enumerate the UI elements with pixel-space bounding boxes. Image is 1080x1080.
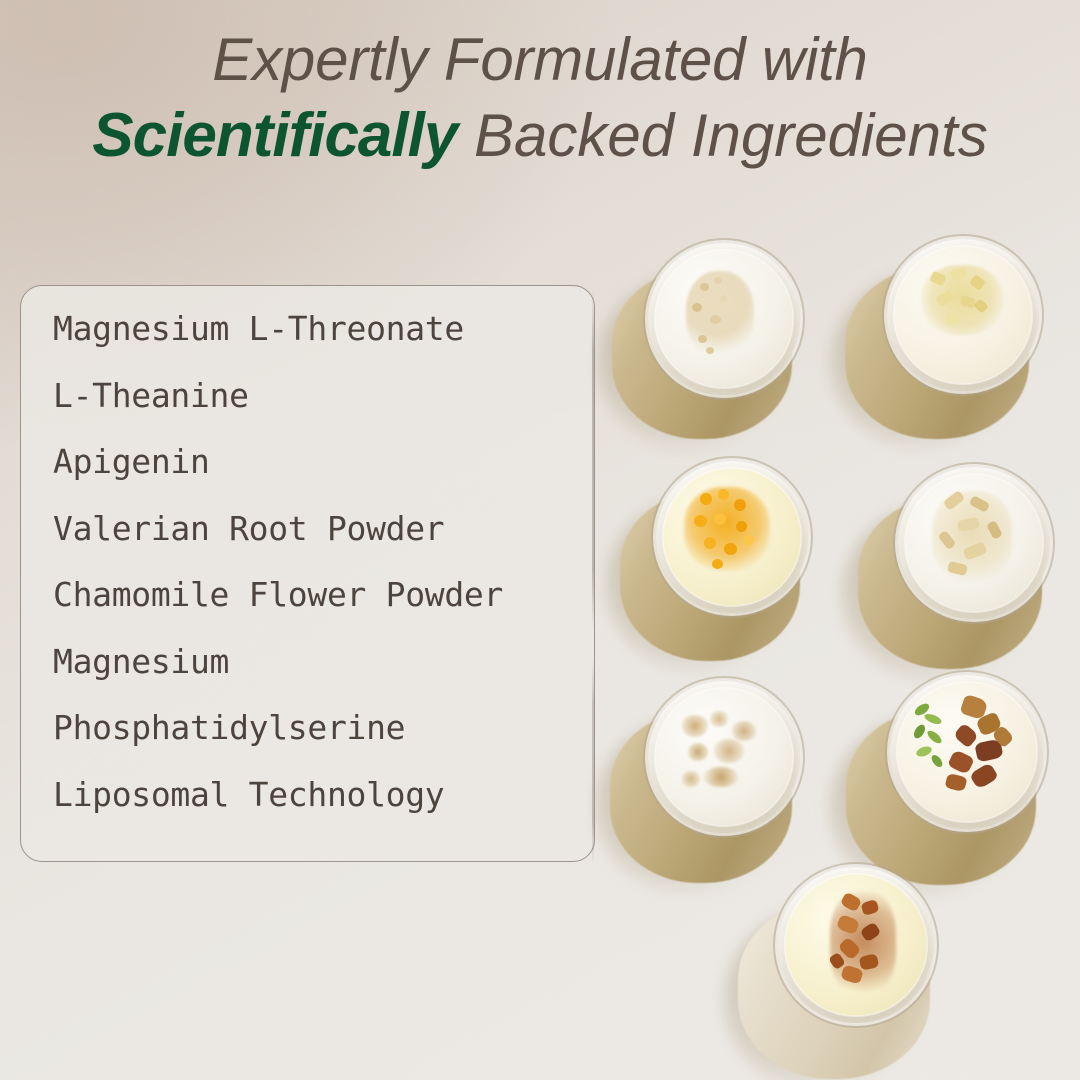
product-photo bbox=[590, 225, 1080, 1080]
topping-grain bbox=[736, 521, 747, 532]
topping-crystals bbox=[921, 265, 1003, 335]
topping-bark bbox=[947, 749, 975, 775]
photo-edge-line bbox=[592, 290, 594, 630]
topping-grain bbox=[957, 517, 980, 532]
list-item: Magnesium bbox=[53, 645, 594, 712]
topping-bark bbox=[953, 723, 979, 749]
ingredient-card: Magnesium L-Threonate L-Theanine Apigeni… bbox=[20, 285, 595, 862]
cream-surface bbox=[785, 874, 927, 1016]
topping-bark bbox=[944, 773, 967, 792]
topping-grain bbox=[969, 274, 986, 291]
topping-herb bbox=[915, 745, 933, 759]
cream-surface bbox=[905, 474, 1043, 612]
topping-herb bbox=[913, 701, 931, 717]
topping-grain bbox=[969, 495, 990, 513]
topping-powder bbox=[682, 771, 700, 787]
topping-powder bbox=[710, 711, 728, 727]
ingredient-list: Magnesium L-Threonate L-Theanine Apigeni… bbox=[53, 312, 594, 844]
topping-grain bbox=[700, 283, 709, 291]
headline-line-2: Scientifically Backed Ingredients bbox=[0, 101, 1080, 170]
topping-grain bbox=[710, 315, 721, 324]
list-item: Chamomile Flower Powder bbox=[53, 578, 594, 645]
jar-opening bbox=[778, 867, 934, 1023]
topping-powder bbox=[714, 739, 744, 763]
topping-grain bbox=[718, 489, 729, 500]
jar-magnesium-l-threonate bbox=[600, 235, 830, 465]
topping-grain bbox=[860, 899, 879, 916]
headline-line-1: Expertly Formulated with bbox=[0, 26, 1080, 93]
topping-rust-mass bbox=[830, 891, 896, 995]
topping-grain bbox=[700, 493, 712, 505]
topping-flakes bbox=[932, 491, 1012, 581]
list-item: Magnesium L-Threonate bbox=[53, 312, 594, 379]
list-item: Phosphatidylserine bbox=[53, 711, 594, 778]
jar-magnesium bbox=[848, 457, 1080, 697]
topping-grain bbox=[859, 953, 880, 970]
topping-grain bbox=[836, 914, 860, 935]
list-item: Apigenin bbox=[53, 445, 594, 512]
cream-surface bbox=[663, 468, 801, 606]
cream-surface bbox=[897, 682, 1037, 822]
topping-grain bbox=[694, 515, 707, 527]
jar-opening bbox=[898, 467, 1050, 619]
jar-l-theanine bbox=[835, 225, 1075, 465]
jar-opening bbox=[887, 239, 1039, 391]
headline-line-2-rest: Backed Ingredients bbox=[457, 102, 987, 169]
topping-grain bbox=[712, 559, 723, 569]
topping-powder bbox=[732, 721, 756, 741]
topping-grain bbox=[840, 964, 864, 984]
topping-bark bbox=[975, 711, 1002, 736]
topping-grain bbox=[837, 937, 861, 961]
topping-grain bbox=[734, 499, 746, 511]
topping-grain bbox=[744, 535, 754, 545]
topping-bark bbox=[969, 762, 999, 790]
headline-accent-word: Scientifically bbox=[92, 101, 457, 170]
topping-herb bbox=[930, 753, 945, 769]
topping-grain bbox=[692, 303, 702, 312]
topping-grain bbox=[720, 295, 727, 302]
topping-bark bbox=[974, 739, 1003, 763]
topping-grain bbox=[929, 271, 946, 287]
topping-orange-mass bbox=[684, 487, 770, 571]
photo-edge-line-2 bbox=[592, 660, 594, 865]
topping-grain bbox=[963, 541, 988, 560]
topping-grain bbox=[943, 490, 966, 511]
list-item: Valerian Root Powder bbox=[53, 512, 594, 579]
topping-grain bbox=[960, 295, 976, 308]
cream-surface bbox=[894, 246, 1032, 384]
topping-grain bbox=[698, 335, 707, 343]
topping-grain bbox=[724, 543, 737, 555]
topping-herb bbox=[923, 712, 943, 726]
jar-opening bbox=[890, 675, 1044, 829]
topping-bark bbox=[959, 694, 988, 720]
topping-grain bbox=[714, 277, 722, 284]
topping-grain bbox=[828, 952, 846, 970]
jar-apigenin bbox=[612, 453, 847, 688]
topping-grain bbox=[706, 347, 714, 354]
jar-opening bbox=[648, 681, 800, 833]
topping-grain bbox=[714, 513, 726, 525]
topping-grain bbox=[860, 921, 882, 942]
cream-surface bbox=[655, 250, 793, 388]
topping-grain bbox=[704, 537, 716, 549]
topping-powder bbox=[686, 271, 754, 357]
list-item: L-Theanine bbox=[53, 379, 594, 446]
topping-grain bbox=[935, 290, 954, 307]
topping-powder bbox=[682, 715, 708, 737]
topping-grain bbox=[973, 298, 989, 314]
topping-herb bbox=[925, 728, 943, 745]
topping-grain bbox=[938, 530, 957, 550]
jar-chamomile bbox=[730, 855, 980, 1080]
topping-grain bbox=[944, 312, 960, 325]
topping-grain bbox=[840, 891, 863, 912]
cream-surface bbox=[655, 688, 793, 826]
list-item: Liposomal Technology bbox=[53, 778, 594, 845]
topping-grain bbox=[950, 267, 967, 280]
topping-powder bbox=[704, 767, 738, 787]
topping-powder bbox=[688, 743, 708, 761]
topping-grain bbox=[986, 520, 1003, 540]
jar-opening bbox=[656, 461, 808, 613]
page-title: Expertly Formulated with Scientifically … bbox=[0, 26, 1080, 171]
topping-grain bbox=[947, 561, 968, 576]
jar-opening bbox=[648, 243, 800, 395]
topping-herb bbox=[912, 723, 928, 740]
topping-bark bbox=[991, 725, 1014, 748]
